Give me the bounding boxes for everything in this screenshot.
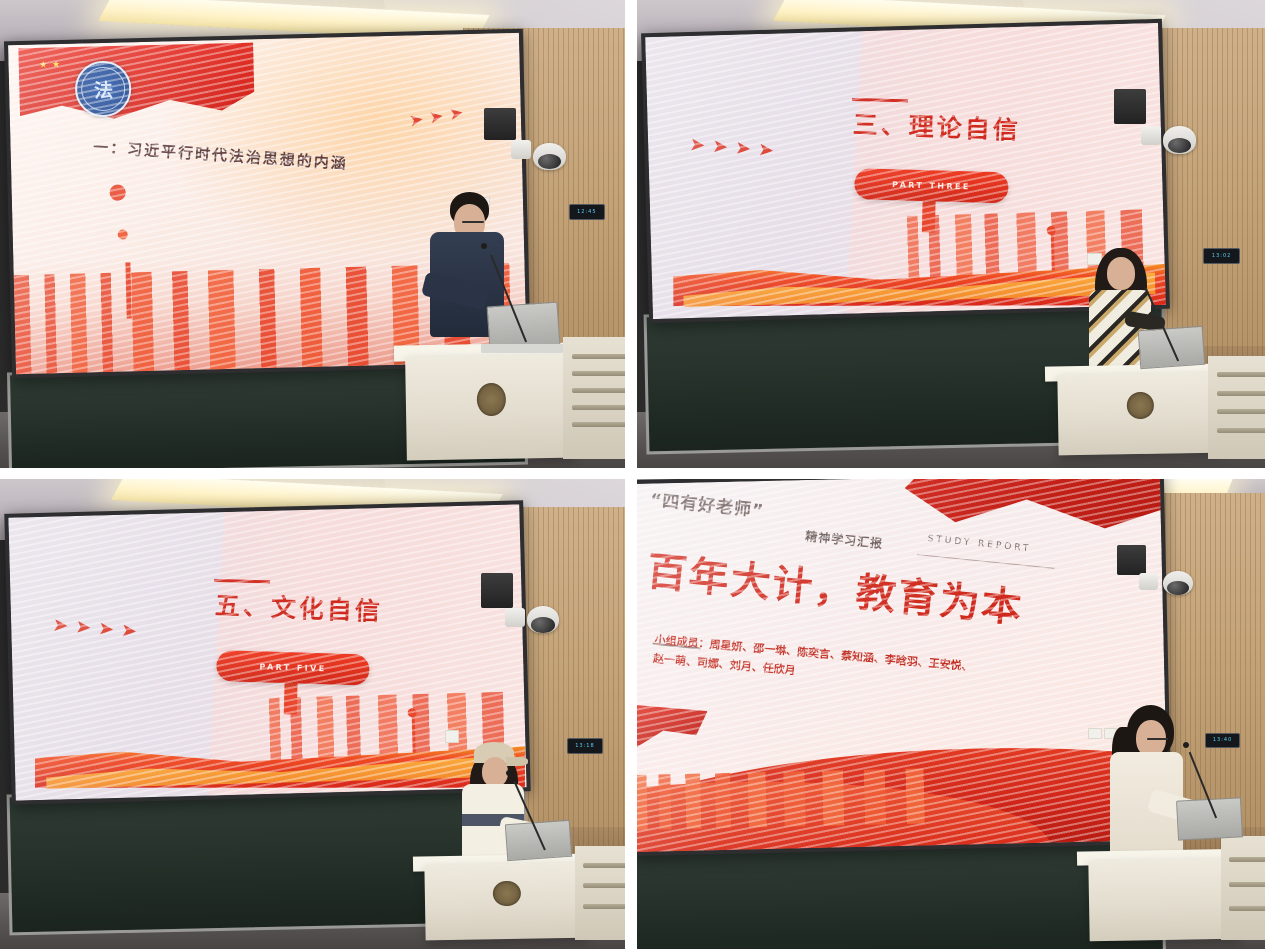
wall-speaker xyxy=(1114,89,1145,124)
camera-dome-lens xyxy=(1168,138,1192,153)
cabinet-drawer xyxy=(572,354,626,359)
cabinet-drawer xyxy=(572,371,626,376)
podium xyxy=(1088,858,1240,941)
cabinet-drawer xyxy=(1217,391,1265,396)
security-camera-bullet xyxy=(1141,126,1161,145)
pearl-tower-sphere xyxy=(1046,225,1055,234)
cabinet-drawer xyxy=(583,863,626,868)
members-list: 小组成员：周星妍、邵一琳、陈奕言、蔡知涵、李晗羽、王安悦、 赵一萌、司娜、刘月、… xyxy=(652,631,1069,705)
camera-dome-lens xyxy=(531,617,554,632)
podium-cabinet xyxy=(563,337,626,459)
cabinet-drawer xyxy=(572,405,626,410)
security-camera-bullet xyxy=(505,608,525,627)
podium xyxy=(1057,373,1222,455)
cabinet-drawer xyxy=(1229,857,1265,862)
dove-flock-icon: ➤➤➤➤ xyxy=(51,614,144,643)
camera-dome-lens xyxy=(538,154,561,169)
pearl-tower-sphere xyxy=(407,708,416,717)
security-camera-bullet xyxy=(1139,573,1158,590)
chinese-flag xyxy=(18,43,255,128)
pearl-tower-sphere-upper xyxy=(109,184,125,200)
cabinet-drawer xyxy=(1229,906,1265,911)
photo-collage: ★ ★ 法 ➤➤➤ 一：习近平行时代法治思想的内涵 xyxy=(0,0,1265,949)
head xyxy=(1107,257,1135,290)
pearl-tower-sphere-lower xyxy=(117,230,127,240)
pearl-tower-shaft xyxy=(1051,234,1055,274)
podium-emblem xyxy=(493,881,521,907)
cap-brim xyxy=(506,757,528,766)
wall-speaker xyxy=(484,108,515,141)
wall-clock-display: 13:18 xyxy=(567,738,603,754)
laptop-screen xyxy=(505,820,572,862)
wall-switch-plate xyxy=(1088,728,1101,739)
podium-cabinet xyxy=(1221,836,1265,939)
cabinet-drawer xyxy=(583,883,626,888)
podium-emblem xyxy=(1126,392,1154,420)
slide-main-title: 百年大计，教育为本 xyxy=(644,539,1073,639)
wall-clock-display: 13:40 xyxy=(1205,733,1240,748)
cabinet-drawer xyxy=(1217,428,1265,433)
city-skyline xyxy=(637,768,933,830)
wall-switch-plate xyxy=(445,730,460,742)
security-camera-dome xyxy=(1163,571,1193,595)
head xyxy=(482,757,508,787)
pearl-tower-shaft xyxy=(412,717,416,757)
slide-content: ➤➤➤➤ 五、文化自信 PART FIVE xyxy=(8,505,526,802)
part-label-pill: PART FIVE xyxy=(216,650,370,686)
part-label-pill: PART THREE xyxy=(854,168,1009,203)
podium-emblem xyxy=(477,382,506,415)
wall-clock-display: 13:02 xyxy=(1203,248,1240,264)
glasses xyxy=(462,221,485,223)
english-label: STUDY REPORT xyxy=(927,534,1032,554)
wall-clock-display: 12:45 xyxy=(569,204,605,220)
security-camera-dome xyxy=(1163,126,1196,153)
collage-panel-bottom-left: ➤➤➤➤ 五、文化自信 PART FIVE xyxy=(0,474,632,949)
dove-flock-icon: ➤➤➤ xyxy=(407,102,470,132)
collage-panel-top-right: ➤➤➤➤ 三、理论自信 PART THREE xyxy=(632,0,1265,474)
flag-stars: ★ ★ xyxy=(39,61,61,72)
part-label: PART THREE xyxy=(892,180,971,191)
red-flag xyxy=(637,703,708,749)
wall-speaker xyxy=(481,573,512,608)
podium xyxy=(405,354,576,460)
podium-cabinet xyxy=(575,846,625,940)
podium-cabinet xyxy=(1208,356,1265,459)
camera-dome-lens xyxy=(1167,581,1189,595)
security-camera-bullet xyxy=(511,140,531,159)
pearl-tower-shaft xyxy=(125,263,131,319)
cabinet-drawer xyxy=(583,904,626,909)
seal-ring xyxy=(81,67,126,112)
collage-panel-top-left: ★ ★ 法 ➤➤➤ 一：习近平行时代法治思想的内涵 xyxy=(0,0,632,474)
slide-content: “四有好老师” 精神学习汇报 STUDY REPORT 百年大计，教育为本 小组… xyxy=(637,479,1168,852)
security-camera-dome xyxy=(533,143,566,170)
slide-heading: 一：习近平行时代法治思想的内涵 xyxy=(92,136,450,181)
cabinet-drawer xyxy=(1217,409,1265,414)
wall-speaker xyxy=(1117,545,1146,576)
dove-flock-icon: ➤➤➤➤ xyxy=(688,133,781,162)
security-camera-dome xyxy=(527,606,560,633)
podium xyxy=(424,863,588,941)
cabinet-drawer xyxy=(572,388,626,393)
laptop-base xyxy=(481,344,562,353)
cabinet-drawer xyxy=(1217,372,1265,377)
collage-panel-bottom-right: “四有好老师” 精神学习汇报 STUDY REPORT 百年大计，教育为本 小组… xyxy=(632,474,1265,949)
cabinet-drawer xyxy=(1229,882,1265,887)
part-label: PART FIVE xyxy=(259,662,326,673)
led-screen: “四有好老师” 精神学习汇报 STUDY REPORT 百年大计，教育为本 小组… xyxy=(637,479,1172,856)
cabinet-drawer xyxy=(572,422,626,427)
